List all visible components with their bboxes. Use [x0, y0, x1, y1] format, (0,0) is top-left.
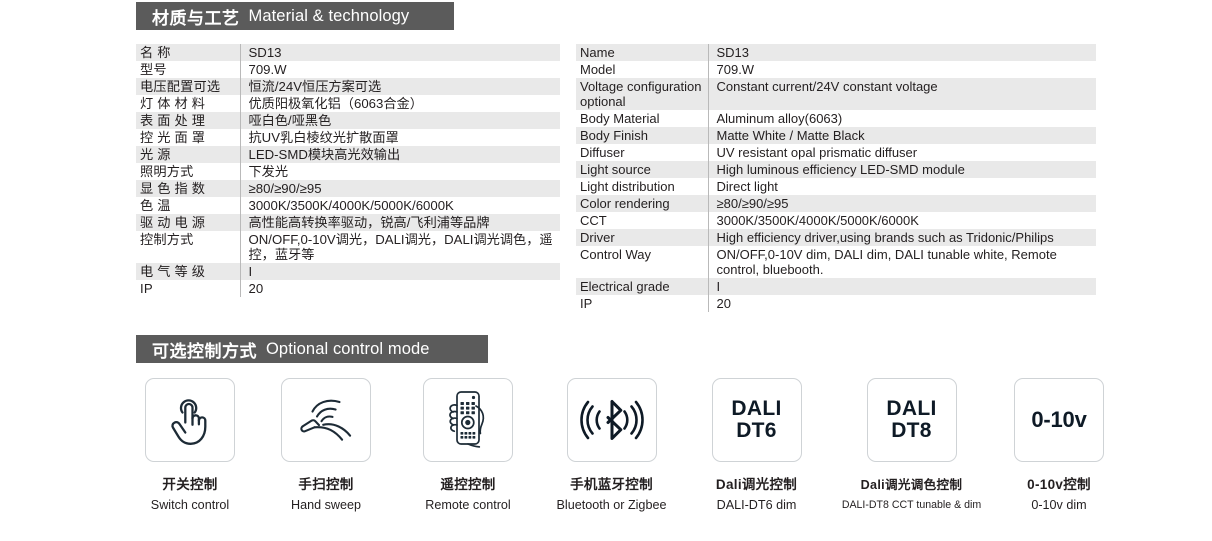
table-row: IP 20	[136, 280, 560, 297]
control-mode-label-cn: 手扫控制	[298, 477, 353, 493]
table-row: CCT 3000K/3500K/4000K/5000K/6000K	[576, 212, 1096, 229]
spec-label: Electrical grade	[576, 278, 708, 295]
control-mode-label-en: DALI-DT8 CCT tunable & dim	[842, 498, 981, 513]
control-mode-label-en: Bluetooth or Zigbee	[557, 498, 667, 513]
spec-value: SD13	[240, 44, 560, 61]
control-mode-icon-box	[567, 378, 657, 462]
table-row: 灯 体 材 料 优质阳极氧化铝（6063合金）	[136, 95, 560, 112]
spec-value: I	[708, 278, 1096, 295]
table-row: Model 709.W	[576, 61, 1096, 78]
table-row: 色 温 3000K/3500K/4000K/5000K/6000K	[136, 197, 560, 214]
table-row: 型号 709.W	[136, 61, 560, 78]
dali-badge-line2: DT8	[886, 420, 936, 442]
control-mode-item-hand-sweep[interactable]: 手扫控制 Hand sweep	[255, 378, 397, 513]
spec-label: 表 面 处 理	[136, 112, 240, 129]
table-row: IP 20	[576, 295, 1096, 312]
table-row: Voltage configuration optional Constant …	[576, 78, 1096, 110]
section-header-material: 材质与工艺 Material & technology	[136, 2, 454, 30]
control-mode-icon-box: DALI DT8	[867, 378, 957, 462]
section-header-material-en: Material & technology	[249, 7, 410, 26]
dali-dt8-icon: DALI DT8	[886, 398, 936, 442]
spec-table-chinese: 名 称 SD13 型号 709.W 电压配置可选 恒流/24V恒压方案可选 灯 …	[136, 44, 560, 297]
table-row: 电 气 等 级 I	[136, 263, 560, 280]
section-header-control-en: Optional control mode	[266, 340, 430, 359]
control-mode-label-cn: 手机蓝牙控制	[570, 477, 653, 493]
table-row: Color rendering ≥80/≥90/≥95	[576, 195, 1096, 212]
spec-label: Body Finish	[576, 127, 708, 144]
table-row: 驱 动 电 源 高性能高转换率驱动，锐高/飞利浦等品牌	[136, 214, 560, 231]
spec-value: I	[240, 263, 560, 280]
spec-value: High efficiency driver,using brands such…	[708, 229, 1096, 246]
touch-finger-icon	[164, 392, 216, 448]
remote-hand-icon	[443, 389, 493, 451]
table-row: 显 色 指 数 ≥80/≥90/≥95	[136, 180, 560, 197]
spec-value: Aluminum alloy(6063)	[708, 110, 1096, 127]
control-mode-list: 开关控制 Switch control 手扫控制 Hand sweep	[125, 378, 1125, 528]
spec-value: High luminous efficiency LED-SMD module	[708, 161, 1096, 178]
spec-value: 20	[708, 295, 1096, 312]
table-row: Control Way ON/OFF,0-10V dim, DALI dim, …	[576, 246, 1096, 278]
control-mode-label-cn: 开关控制	[162, 477, 217, 493]
control-mode-item-0-10v[interactable]: 0-10v 0-10v控制 0-10v dim	[994, 378, 1124, 513]
control-mode-label-en: Hand sweep	[291, 498, 361, 513]
control-mode-icon-box	[281, 378, 371, 462]
table-row: Body Material Aluminum alloy(6063)	[576, 110, 1096, 127]
control-mode-item-dali-dt6[interactable]: DALI DT6 Dali调光控制 DALI-DT6 dim	[684, 378, 829, 513]
spec-label: 控 光 面 罩	[136, 129, 240, 146]
control-mode-icon-box	[423, 378, 513, 462]
control-mode-label-en: Switch control	[151, 498, 229, 513]
spec-label: 驱 动 电 源	[136, 214, 240, 231]
table-row: Driver High efficiency driver,using bran…	[576, 229, 1096, 246]
table-row: Name SD13	[576, 44, 1096, 61]
spec-table-english: Name SD13 Model 709.W Voltage configurat…	[576, 44, 1096, 312]
table-row: Diffuser UV resistant opal prismatic dif…	[576, 144, 1096, 161]
spec-label: Body Material	[576, 110, 708, 127]
spec-label: IP	[136, 280, 240, 297]
zero-ten-volt-icon: 0-10v	[1031, 407, 1086, 433]
spec-value: 3000K/3500K/4000K/5000K/6000K	[708, 212, 1096, 229]
control-mode-item-dali-dt8[interactable]: DALI DT8 Dali调光调色控制 DALI-DT8 CCT tunable…	[829, 378, 994, 513]
table-row: 表 面 处 理 哑白色/哑黑色	[136, 112, 560, 129]
spec-value: 709.W	[240, 61, 560, 78]
spec-label: 型号	[136, 61, 240, 78]
bluetooth-wave-icon	[579, 397, 645, 443]
spec-label: 光 源	[136, 146, 240, 163]
spec-value: 709.W	[708, 61, 1096, 78]
table-row: Body Finish Matte White / Matte Black	[576, 127, 1096, 144]
spec-value: ≥80/≥90/≥95	[708, 195, 1096, 212]
control-mode-item-remote[interactable]: 遥控控制 Remote control	[397, 378, 539, 513]
spec-value: 20	[240, 280, 560, 297]
dali-badge-line2: DT6	[731, 420, 781, 442]
table-row: Electrical grade I	[576, 278, 1096, 295]
spec-label: 名 称	[136, 44, 240, 61]
spec-value: Matte White / Matte Black	[708, 127, 1096, 144]
spec-label: Color rendering	[576, 195, 708, 212]
spec-label: CCT	[576, 212, 708, 229]
control-mode-icon-box: DALI DT6	[712, 378, 802, 462]
control-mode-label-en: Remote control	[425, 498, 510, 513]
table-row: 名 称 SD13	[136, 44, 560, 61]
spec-label: 照明方式	[136, 163, 240, 180]
spec-value: Direct light	[708, 178, 1096, 195]
table-row: 光 源 LED-SMD模块高光效输出	[136, 146, 560, 163]
spec-value: ON/OFF,0-10V调光，DALI调光，DALI调光调色，遥控，蓝牙等	[240, 231, 560, 263]
control-mode-icon-box	[145, 378, 235, 462]
spec-value: SD13	[708, 44, 1096, 61]
table-row: 电压配置可选 恒流/24V恒压方案可选	[136, 78, 560, 95]
control-mode-label-cn: 遥控控制	[440, 477, 495, 493]
table-row: Light distribution Direct light	[576, 178, 1096, 195]
spec-label: Voltage configuration optional	[576, 78, 708, 110]
spec-label: 电 气 等 级	[136, 263, 240, 280]
spec-label: Model	[576, 61, 708, 78]
spec-label: Diffuser	[576, 144, 708, 161]
control-mode-item-bluetooth[interactable]: 手机蓝牙控制 Bluetooth or Zigbee	[539, 378, 684, 513]
section-header-material-cn: 材质与工艺	[152, 4, 240, 29]
spec-label: Name	[576, 44, 708, 61]
spec-label: 色 温	[136, 197, 240, 214]
spec-value: 恒流/24V恒压方案可选	[240, 78, 560, 95]
spec-value: LED-SMD模块高光效输出	[240, 146, 560, 163]
spec-label: Light distribution	[576, 178, 708, 195]
spec-label: Driver	[576, 229, 708, 246]
dali-badge-line1: DALI	[731, 398, 781, 420]
table-row: 控制方式 ON/OFF,0-10V调光，DALI调光，DALI调光调色，遥控，蓝…	[136, 231, 560, 263]
spec-value: 抗UV乳白棱纹光扩散面罩	[240, 129, 560, 146]
spec-value: Constant current/24V constant voltage	[708, 78, 1096, 110]
spec-value: 下发光	[240, 163, 560, 180]
dali-dt6-icon: DALI DT6	[731, 398, 781, 442]
table-row: Light source High luminous efficiency LE…	[576, 161, 1096, 178]
table-row: 控 光 面 罩 抗UV乳白棱纹光扩散面罩	[136, 129, 560, 146]
control-mode-label-cn: 0-10v控制	[1027, 477, 1091, 493]
table-row: 照明方式 下发光	[136, 163, 560, 180]
dali-badge-line1: DALI	[886, 398, 936, 420]
spec-label: 电压配置可选	[136, 78, 240, 95]
spec-value: UV resistant opal prismatic diffuser	[708, 144, 1096, 161]
spec-label: IP	[576, 295, 708, 312]
spec-label: 控制方式	[136, 231, 240, 263]
control-mode-label-cn: Dali调光控制	[716, 477, 797, 493]
spec-value: ON/OFF,0-10V dim, DALI dim, DALI tunable…	[708, 246, 1096, 278]
control-mode-label-en: 0-10v dim	[1031, 498, 1086, 513]
control-mode-label-en: DALI-DT6 dim	[717, 498, 797, 513]
spec-value: ≥80/≥90/≥95	[240, 180, 560, 197]
spec-value: 哑白色/哑黑色	[240, 112, 560, 129]
section-header-control-cn: 可选控制方式	[152, 337, 257, 362]
control-mode-label-cn: Dali调光调色控制	[861, 477, 963, 493]
spec-label: Light source	[576, 161, 708, 178]
spec-value: 高性能高转换率驱动，锐高/飞利浦等品牌	[240, 214, 560, 231]
spec-label: 灯 体 材 料	[136, 95, 240, 112]
section-header-control-mode: 可选控制方式 Optional control mode	[136, 335, 488, 363]
spec-value: 优质阳极氧化铝（6063合金）	[240, 95, 560, 112]
hand-sweep-icon	[296, 393, 356, 447]
spec-label: Control Way	[576, 246, 708, 278]
control-mode-icon-box: 0-10v	[1014, 378, 1104, 462]
spec-label: 显 色 指 数	[136, 180, 240, 197]
spec-value: 3000K/3500K/4000K/5000K/6000K	[240, 197, 560, 214]
control-mode-item-switch[interactable]: 开关控制 Switch control	[125, 378, 255, 513]
